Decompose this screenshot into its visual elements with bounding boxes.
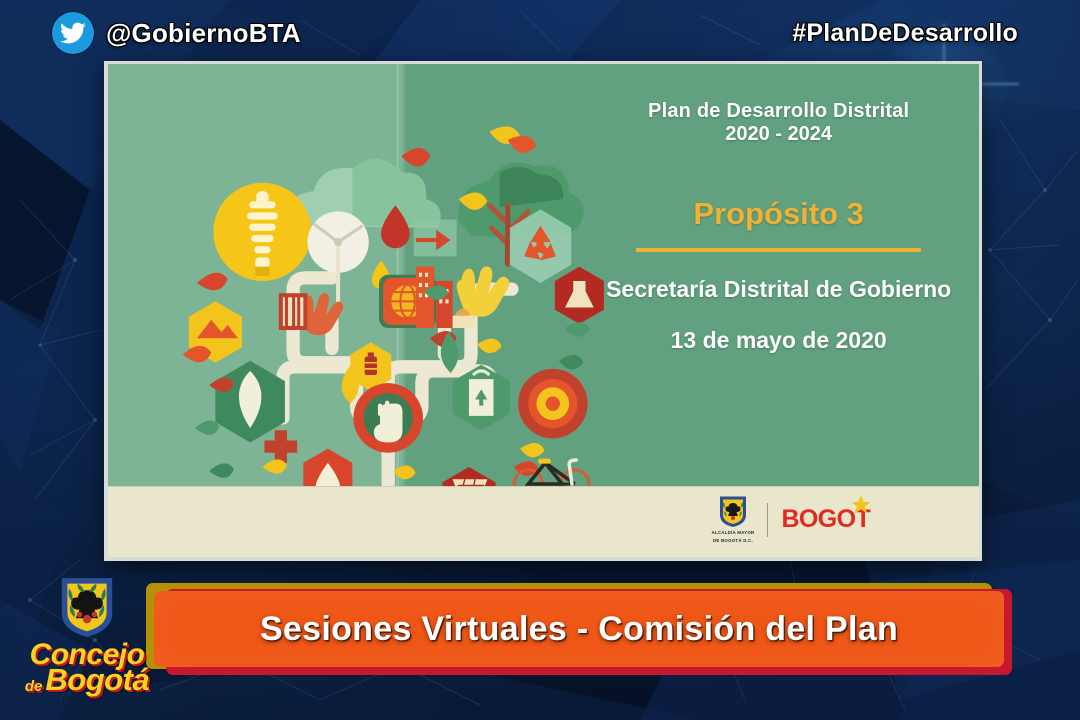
slide-date: 13 de mayo de 2020 <box>596 327 962 354</box>
alcaldia-caption-line1: ALCALDÍA MAYOR <box>712 530 755 536</box>
alcaldia-caption-line2: DE BOGOTÁ D.C. <box>713 538 753 544</box>
plan-years: 2020 - 2024 <box>596 123 962 146</box>
alcaldia-shield-icon <box>718 495 748 528</box>
header-bar: @GobiernoBTA #PlanDeDesarrollo <box>0 0 1080 62</box>
presentation-slide: Plan de Desarrollo Distrital 2020 - 2024… <box>108 64 979 557</box>
proposito-heading: Propósito 3 <box>596 196 962 232</box>
twitter-handle-text: @GobiernoBTA <box>106 18 301 49</box>
alcaldia-mayor-logo: ALCALDÍA MAYOR DE BOGOTÁ D.C. <box>712 495 755 545</box>
logo-divider <box>767 503 768 537</box>
banner-orange-layer: Sesiones Virtuales - Comisión del Plan <box>154 591 1004 667</box>
bogota-coat-of-arms-icon <box>59 576 115 638</box>
lower-third-banner: Sesiones Virtuales - Comisión del Plan <box>146 583 1012 675</box>
twitter-handle-group[interactable]: @GobiernoBTA <box>52 12 301 54</box>
concejo-word-bogota: Bogotá <box>45 667 149 693</box>
concejo-word-de: de <box>25 681 43 694</box>
banner-title-text: Sesiones Virtuales - Comisión del Plan <box>260 610 898 649</box>
slide-footer-logos: ALCALDÍA MAYOR DE BOGOTÁ D.C. BOGOT <box>712 495 871 545</box>
presentation-slide-frame: Plan de Desarrollo Distrital 2020 - 2024… <box>104 61 982 561</box>
twitter-bird-icon[interactable] <box>52 12 94 54</box>
slide-text-block: Plan de Desarrollo Distrital 2020 - 2024… <box>596 99 962 354</box>
concejo-wordmark: Concejo de Bogotá <box>26 642 148 693</box>
hashtag-text: #PlanDeDesarrollo <box>792 19 1018 48</box>
concejo-de-bogota-logo: Concejo de Bogotá <box>26 576 148 706</box>
secretaria-name: Secretaría Distrital de Gobierno <box>596 276 962 303</box>
proposito-underline-rule <box>636 248 921 252</box>
star-icon <box>850 494 872 516</box>
bogota-wordmark: BOGOT <box>781 507 870 532</box>
plan-title: Plan de Desarrollo Distrital <box>596 99 962 123</box>
